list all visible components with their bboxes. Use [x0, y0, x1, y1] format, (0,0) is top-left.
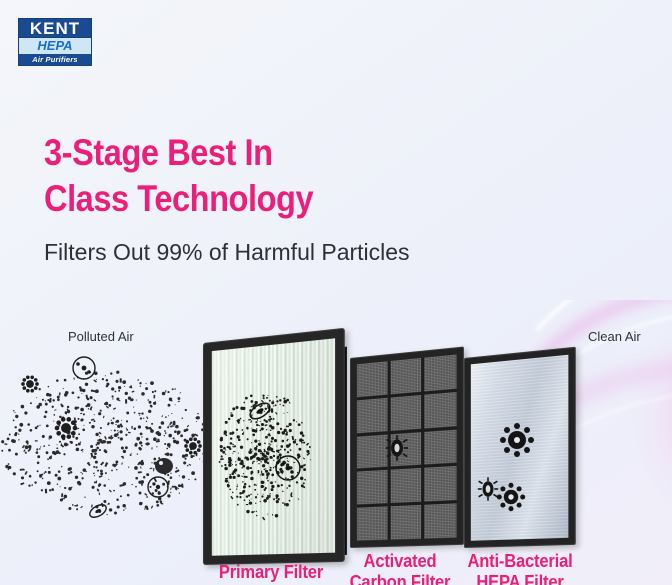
filter-stage-primary — [203, 343, 341, 565]
bacteria-icon — [386, 435, 408, 461]
kent-hepa-logo[interactable]: KENT HEPA Air Purifiers — [18, 18, 92, 66]
poster-canvas: KENT HEPA Air Purifiers 3-Stage Best In … — [0, 0, 672, 585]
filter-stage-antibacterial-hepa — [464, 358, 574, 548]
bacteria-icon — [478, 477, 498, 500]
page-title: 3-Stage Best In Class Technology — [44, 130, 414, 222]
logo-brand-text: KENT — [18, 18, 92, 38]
logo-tagline-text: Air Purifiers — [18, 54, 92, 66]
filter-label-line2: HEPA Filter — [463, 572, 577, 585]
filter-label-line1: Anti-Bacterial — [463, 551, 577, 572]
filter-label-line1: Activated — [348, 551, 451, 572]
filter-stage-activated-carbon — [350, 358, 462, 548]
polluted-air-label: Polluted Air — [68, 329, 134, 344]
virus-icon — [500, 423, 534, 457]
page-subtitle: Filters Out 99% of Harmful Particles — [44, 238, 564, 266]
filter-label-line1: Primary Filter — [204, 562, 338, 583]
filter-label-primary: Primary Filter — [204, 562, 338, 583]
filter-label-line2: Carbon Filter — [348, 572, 451, 585]
clean-air-label: Clean Air — [588, 329, 641, 344]
logo-hepa-text: HEPA — [18, 38, 92, 54]
polluted-air-particle-cloud — [0, 348, 218, 533]
filter-label-antibacterial-hepa: Anti-Bacterial HEPA Filter — [463, 551, 577, 585]
virus-icon — [497, 483, 525, 511]
filter-label-activated-carbon: Activated Carbon Filter — [348, 551, 451, 585]
